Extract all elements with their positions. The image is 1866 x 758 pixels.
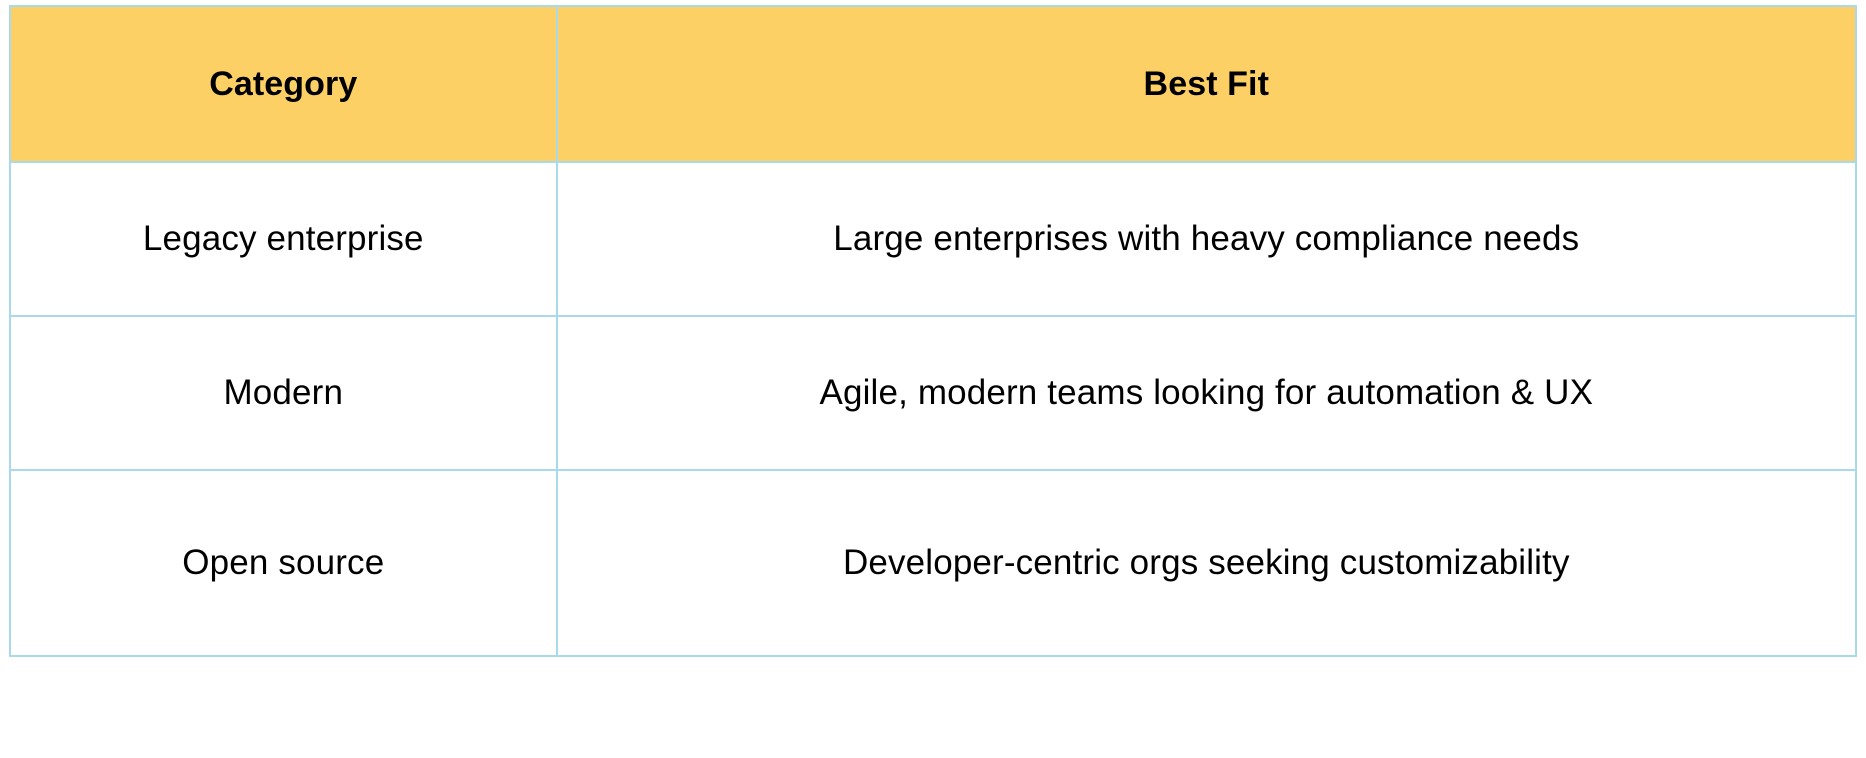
column-header-best-fit: Best Fit (557, 6, 1856, 162)
cell-category: Modern (10, 316, 557, 470)
table-row: Legacy enterprise Large enterprises with… (10, 162, 1856, 316)
cell-best-fit: Developer-centric orgs seeking customiza… (557, 470, 1856, 656)
table-header-row: Category Best Fit (10, 6, 1856, 162)
table-row: Modern Agile, modern teams looking for a… (10, 316, 1856, 470)
page-root: Category Best Fit Legacy enterprise Larg… (0, 0, 1866, 758)
table-row: Open source Developer-centric orgs seeki… (10, 470, 1856, 656)
cell-category: Open source (10, 470, 557, 656)
cell-best-fit: Large enterprises with heavy compliance … (557, 162, 1856, 316)
table-header: Category Best Fit (10, 6, 1856, 162)
cell-category: Legacy enterprise (10, 162, 557, 316)
table-body: Legacy enterprise Large enterprises with… (10, 162, 1856, 656)
cell-best-fit: Agile, modern teams looking for automati… (557, 316, 1856, 470)
column-header-category: Category (10, 6, 557, 162)
comparison-table: Category Best Fit Legacy enterprise Larg… (9, 5, 1857, 657)
